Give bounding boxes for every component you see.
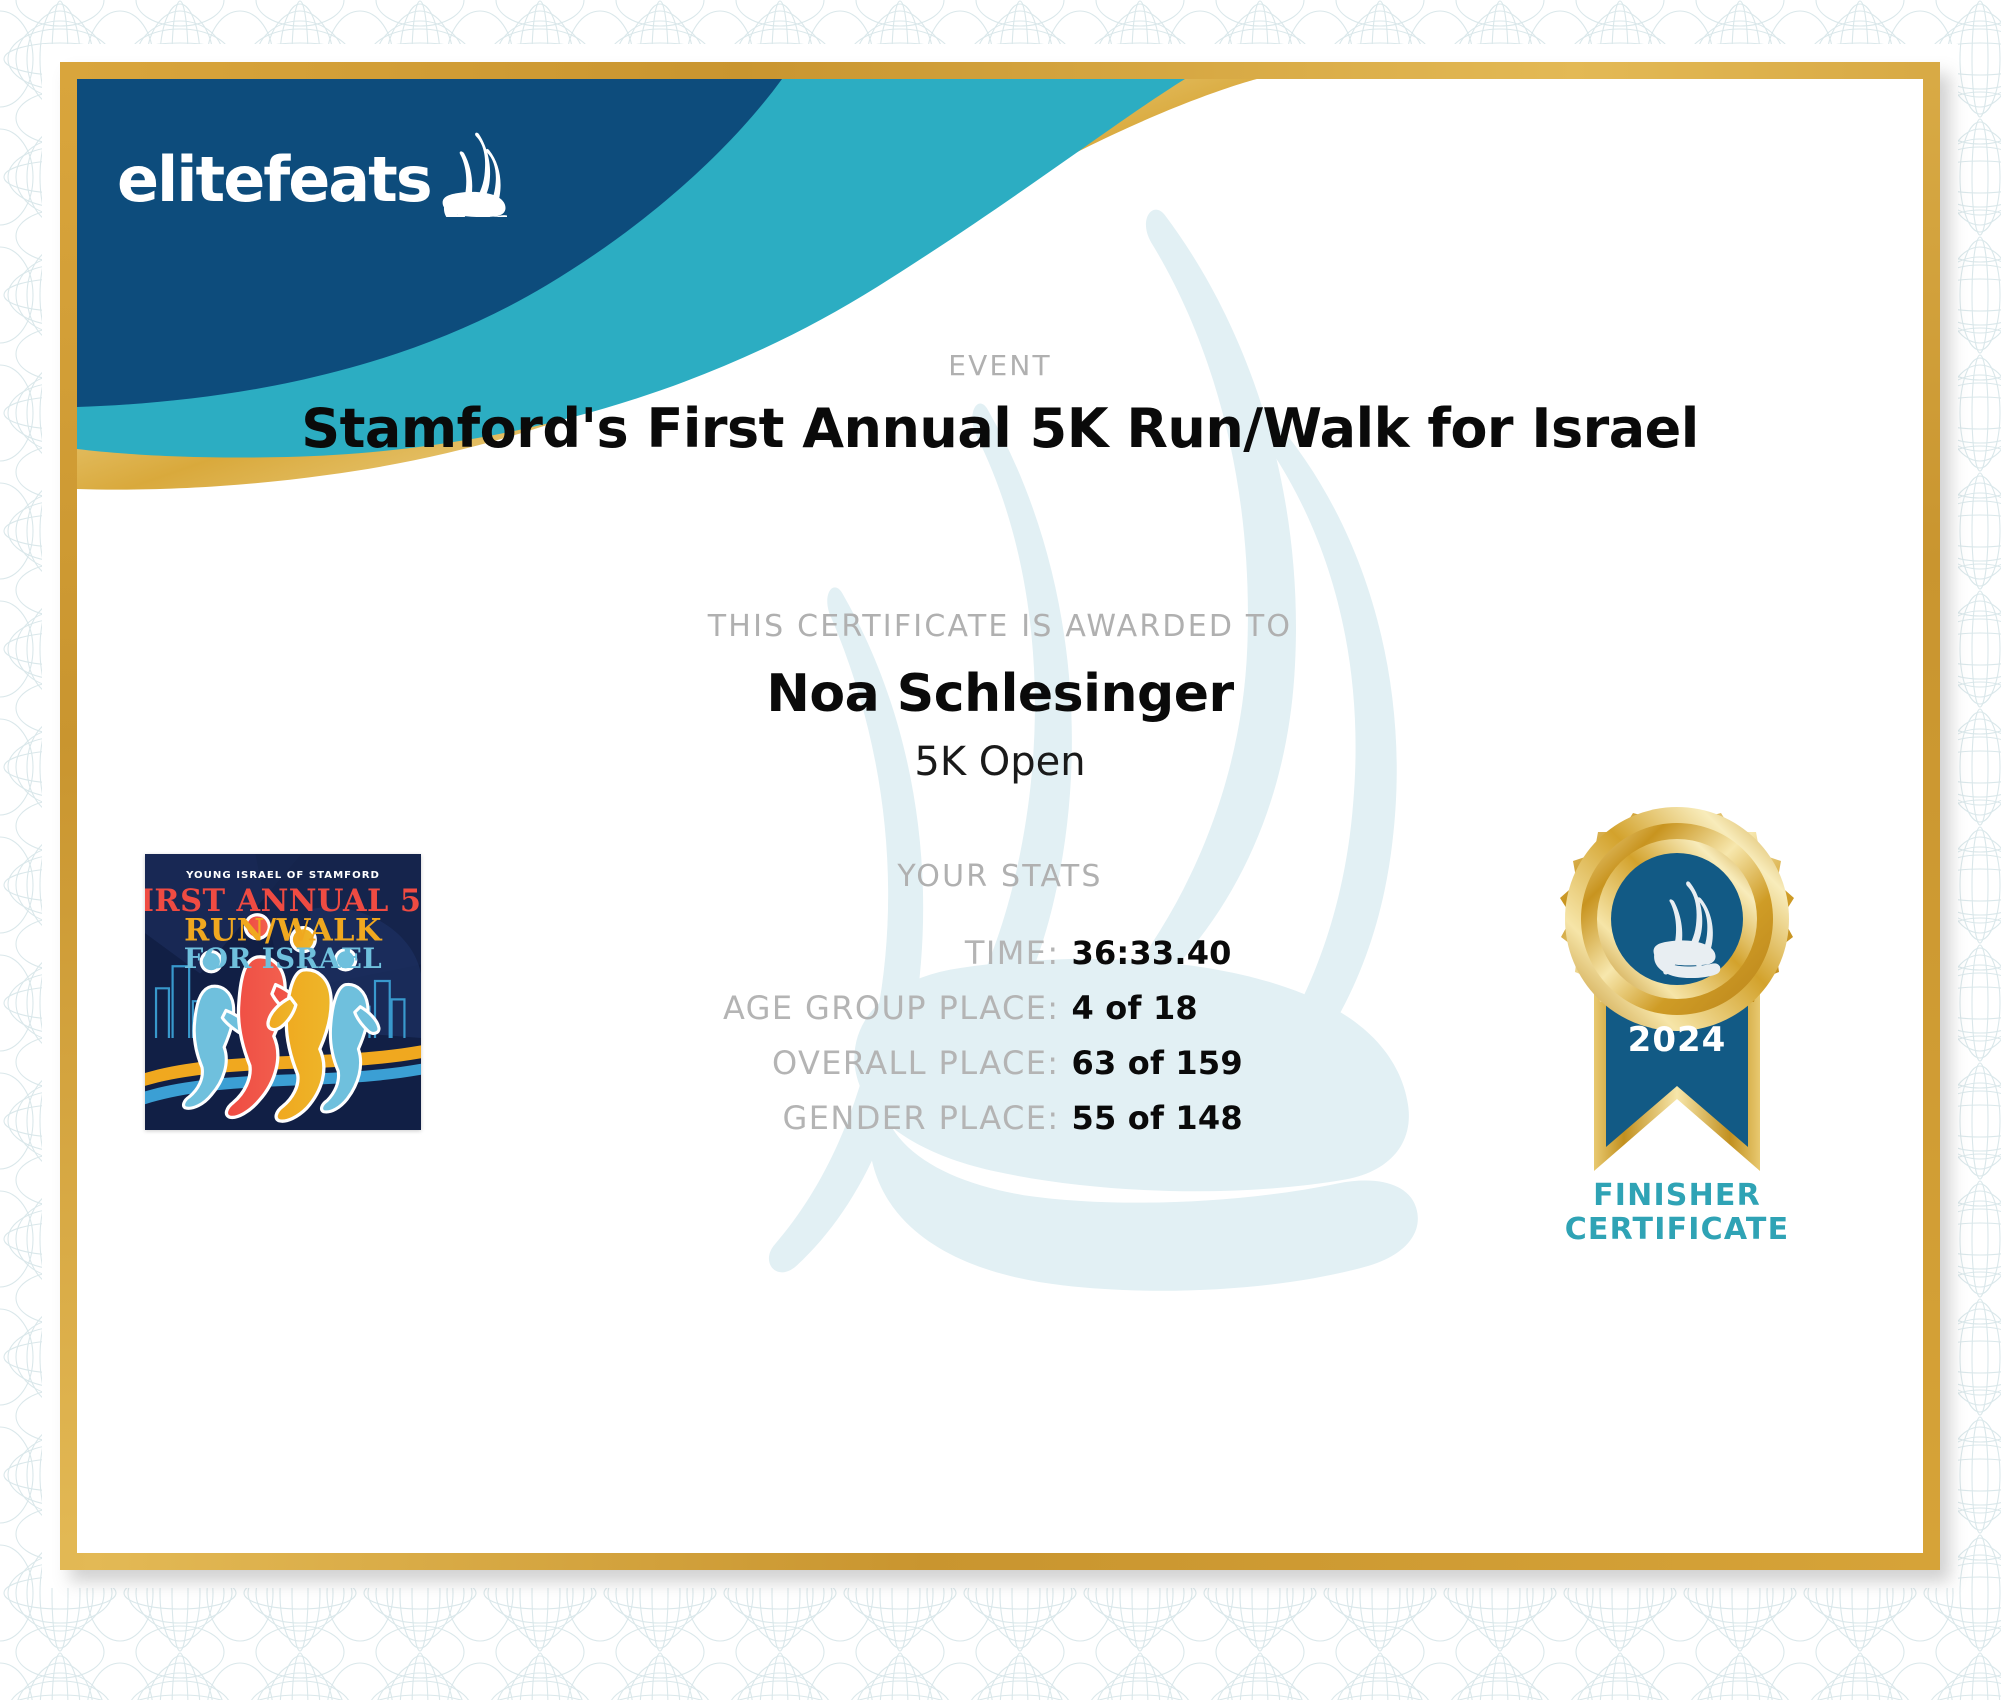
certificate-inner: elitefeats EVENT Stamfor bbox=[77, 79, 1923, 1553]
division-name: 5K Open bbox=[77, 739, 1923, 785]
stat-key: AGE GROUP PLACE: bbox=[615, 989, 1060, 1027]
certificate-card: elitefeats EVENT Stamfor bbox=[60, 62, 1940, 1570]
awarded-to-label: THIS CERTIFICATE IS AWARDED TO bbox=[77, 609, 1923, 644]
stat-value: 63 of 159 bbox=[1072, 1044, 1372, 1082]
caption-line-1: FINISHER bbox=[1532, 1179, 1822, 1213]
race-logo-org: YOUNG ISRAEL OF STAMFORD bbox=[185, 870, 380, 881]
winged-foot-icon bbox=[433, 131, 507, 217]
caption-line-2: CERTIFICATE bbox=[1532, 1213, 1822, 1247]
stat-value: 4 of 18 bbox=[1072, 989, 1372, 1027]
medal-year: 2024 bbox=[1628, 1020, 1727, 1060]
stat-key: TIME: bbox=[615, 934, 1060, 972]
stat-value: 36:33.40 bbox=[1072, 934, 1372, 972]
event-label: EVENT bbox=[77, 349, 1923, 382]
stat-key: GENDER PLACE: bbox=[615, 1099, 1060, 1137]
finisher-certificate-caption: FINISHER CERTIFICATE bbox=[1532, 1179, 1822, 1246]
elitefeats-wordmark: elitefeats bbox=[117, 149, 431, 211]
finisher-medal-badge: 2024 bbox=[1532, 799, 1822, 1199]
event-name: Stamford's First Annual 5K Run/Walk for … bbox=[77, 397, 1923, 460]
certificate-page: elitefeats EVENT Stamfor bbox=[0, 0, 2001, 1700]
race-logo-image: YOUNG ISRAEL OF STAMFORD FIRST ANNUAL 5K… bbox=[145, 854, 421, 1130]
stat-key: OVERALL PLACE: bbox=[615, 1044, 1060, 1082]
elitefeats-logo: elitefeats bbox=[117, 131, 507, 211]
recipient-name: Noa Schlesinger bbox=[77, 664, 1923, 724]
race-logo-line3: FOR ISRAEL bbox=[184, 942, 382, 975]
stat-value: 55 of 148 bbox=[1072, 1099, 1372, 1137]
